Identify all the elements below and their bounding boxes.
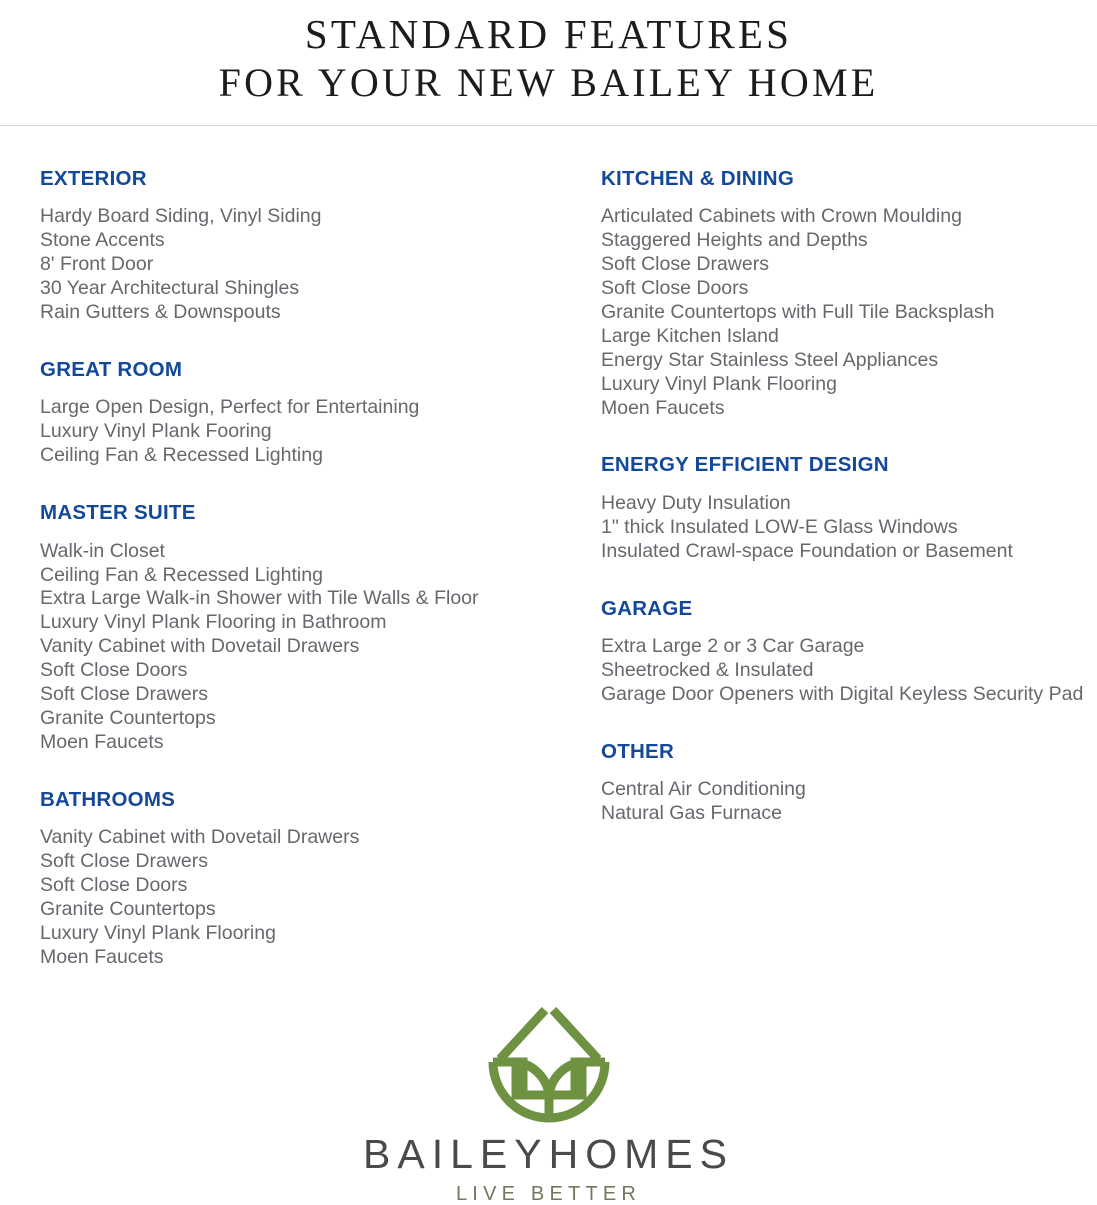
- feature-list: Large Open Design, Perfect for Entertain…: [40, 396, 550, 468]
- section-heading-garage: GARAGE: [601, 598, 1097, 621]
- feature-item: Ceiling Fan & Recessed Lighting: [40, 444, 550, 468]
- feature-item: Soft Close Doors: [40, 874, 550, 898]
- feature-item: Sheetrocked & Insulated: [601, 659, 1097, 683]
- feature-item: Vanity Cabinet with Dovetail Drawers: [40, 635, 550, 659]
- brand-logo-block: BAILEYHOMES LIVE BETTER: [0, 1000, 1097, 1204]
- section-heading-energy-efficient-design: ENERGY EFFICIENT DESIGN: [601, 454, 1097, 477]
- feature-item: Ceiling Fan & Recessed Lighting: [40, 564, 550, 588]
- right-column: KITCHEN & DININGArticulated Cabinets wit…: [550, 168, 1097, 970]
- feature-item: Granite Countertops: [40, 707, 550, 731]
- feature-section: MASTER SUITEWalk-in ClosetCeiling Fan & …: [40, 502, 550, 755]
- feature-section: BATHROOMSVanity Cabinet with Dovetail Dr…: [40, 789, 550, 970]
- feature-item: Soft Close Drawers: [601, 253, 1097, 277]
- feature-list: Central Air ConditioningNatural Gas Furn…: [601, 778, 1097, 826]
- feature-item: Vanity Cabinet with Dovetail Drawers: [40, 826, 550, 850]
- feature-item: Central Air Conditioning: [601, 778, 1097, 802]
- feature-list: Hardy Board Siding, Vinyl SidingStone Ac…: [40, 205, 550, 325]
- feature-item: Stone Accents: [40, 229, 550, 253]
- feature-item: Moen Faucets: [40, 946, 550, 970]
- feature-list: Heavy Duty Insulation1" thick Insulated …: [601, 492, 1097, 564]
- feature-section: GARAGEExtra Large 2 or 3 Car GarageSheet…: [601, 598, 1097, 707]
- feature-item: Walk-in Closet: [40, 540, 550, 564]
- feature-item: 1" thick Insulated LOW-E Glass Windows: [601, 516, 1097, 540]
- feature-item: Luxury Vinyl Plank Flooring: [40, 922, 550, 946]
- features-columns: EXTERIORHardy Board Siding, Vinyl Siding…: [0, 168, 1097, 970]
- feature-list: Vanity Cabinet with Dovetail DrawersSoft…: [40, 826, 550, 969]
- wordmark-bailey: BAILEY: [363, 1131, 549, 1177]
- header-divider: [0, 125, 1097, 126]
- feature-item: Luxury Vinyl Plank Flooring in Bathroom: [40, 611, 550, 635]
- feature-item: Staggered Heights and Depths: [601, 229, 1097, 253]
- feature-item: Luxury Vinyl Plank Fooring: [40, 420, 550, 444]
- feature-item: 8' Front Door: [40, 253, 550, 277]
- feature-list: Walk-in ClosetCeiling Fan & Recessed Lig…: [40, 540, 550, 755]
- page-title-line-1: STANDARD FEATURES: [0, 12, 1097, 58]
- feature-item: Extra Large Walk-in Shower with Tile Wal…: [40, 587, 550, 611]
- feature-item: Energy Star Stainless Steel Appliances: [601, 349, 1097, 373]
- feature-section: ENERGY EFFICIENT DESIGNHeavy Duty Insula…: [601, 454, 1097, 563]
- feature-section: KITCHEN & DININGArticulated Cabinets wit…: [601, 168, 1097, 421]
- wordmark-homes: HOMES: [549, 1131, 734, 1177]
- page-title-line-2: FOR YOUR NEW BAILEY HOME: [0, 61, 1097, 106]
- feature-item: 30 Year Architectural Shingles: [40, 277, 550, 301]
- feature-item: Moen Faucets: [40, 731, 550, 755]
- feature-item: Granite Countertops: [40, 898, 550, 922]
- feature-section: OTHERCentral Air ConditioningNatural Gas…: [601, 741, 1097, 826]
- feature-item: Soft Close Drawers: [40, 850, 550, 874]
- section-heading-master-suite: MASTER SUITE: [40, 502, 550, 525]
- feature-list: Articulated Cabinets with Crown Moulding…: [601, 205, 1097, 420]
- section-heading-great-room: GREAT ROOM: [40, 359, 550, 382]
- feature-item: Soft Close Drawers: [40, 683, 550, 707]
- feature-section: GREAT ROOMLarge Open Design, Perfect for…: [40, 359, 550, 468]
- feature-item: Heavy Duty Insulation: [601, 492, 1097, 516]
- feature-item: Luxury Vinyl Plank Flooring: [601, 373, 1097, 397]
- feature-item: Granite Countertops with Full Tile Backs…: [601, 301, 1097, 325]
- brand-tagline: LIVE BETTER: [0, 1184, 1097, 1204]
- bailey-homes-house-leaf-logo: [486, 1000, 612, 1128]
- section-heading-other: OTHER: [601, 741, 1097, 764]
- feature-item: Moen Faucets: [601, 397, 1097, 421]
- feature-item: Large Kitchen Island: [601, 325, 1097, 349]
- feature-item: Articulated Cabinets with Crown Moulding: [601, 205, 1097, 229]
- standard-features-document: STANDARD FEATURES FOR YOUR NEW BAILEY HO…: [0, 0, 1097, 1204]
- feature-item: Rain Gutters & Downspouts: [40, 301, 550, 325]
- feature-item: Hardy Board Siding, Vinyl Siding: [40, 205, 550, 229]
- feature-section: EXTERIORHardy Board Siding, Vinyl Siding…: [40, 168, 550, 325]
- feature-item: Garage Door Openers with Digital Keyless…: [601, 683, 1097, 707]
- feature-item: Large Open Design, Perfect for Entertain…: [40, 396, 550, 420]
- feature-item: Insulated Crawl-space Foundation or Base…: [601, 540, 1097, 564]
- feature-item: Soft Close Doors: [601, 277, 1097, 301]
- section-heading-kitchen-dining: KITCHEN & DINING: [601, 168, 1097, 191]
- section-heading-bathrooms: BATHROOMS: [40, 789, 550, 812]
- brand-wordmark: BAILEYHOMES: [0, 1134, 1097, 1175]
- left-column: EXTERIORHardy Board Siding, Vinyl Siding…: [0, 168, 550, 970]
- feature-item: Extra Large 2 or 3 Car Garage: [601, 635, 1097, 659]
- feature-item: Natural Gas Furnace: [601, 802, 1097, 826]
- feature-item: Soft Close Doors: [40, 659, 550, 683]
- document-header: STANDARD FEATURES FOR YOUR NEW BAILEY HO…: [0, 0, 1097, 126]
- section-heading-exterior: EXTERIOR: [40, 168, 550, 191]
- feature-list: Extra Large 2 or 3 Car GarageSheetrocked…: [601, 635, 1097, 707]
